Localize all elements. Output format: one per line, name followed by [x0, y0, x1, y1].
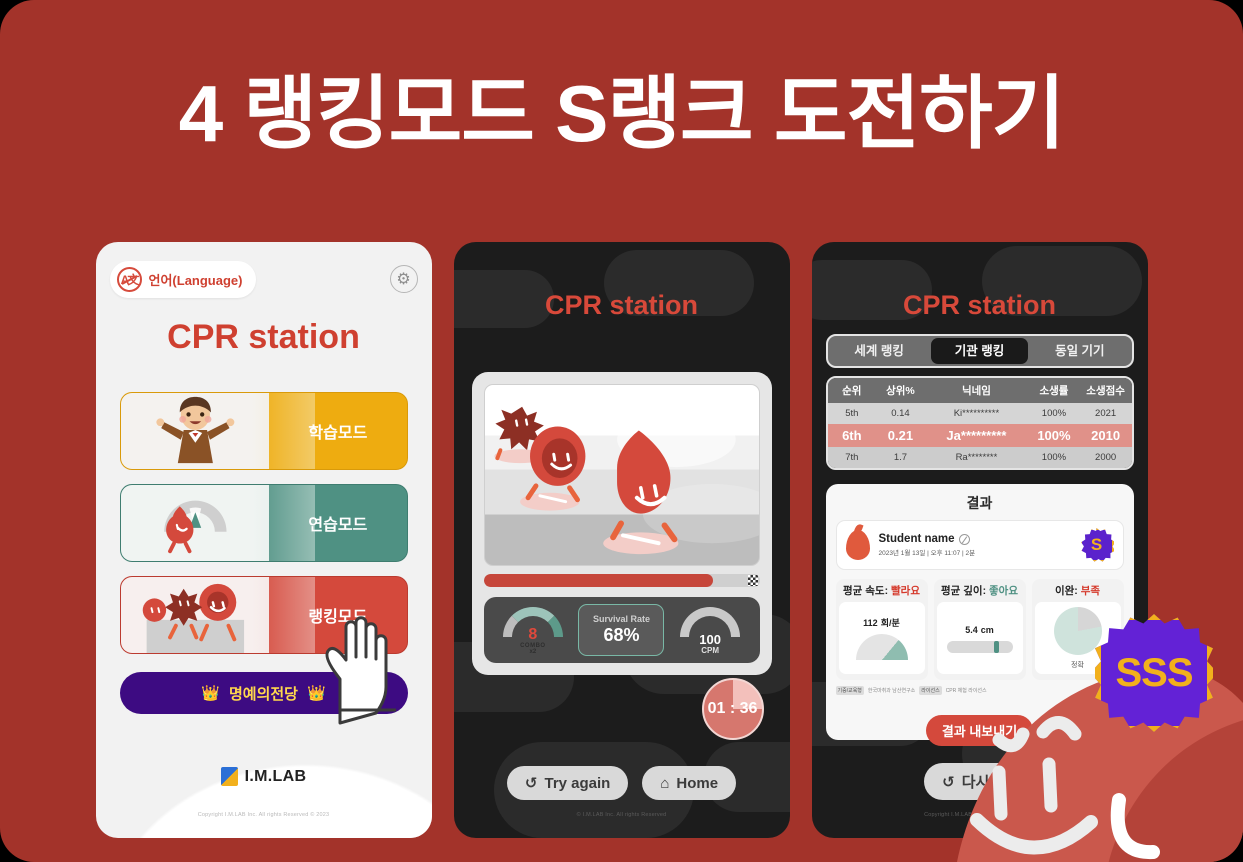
mode-list: 학습모드 — [120, 392, 408, 714]
blood-cells-running-art — [485, 385, 759, 565]
cell-rate: 100% — [1028, 428, 1080, 443]
panel1-topbar: A文 언어(Language) ⚙ — [110, 260, 418, 298]
cell-nickname: Ra******** — [925, 452, 1028, 463]
cell-rank: 7th — [828, 452, 877, 463]
col-rate: 소생률 — [1028, 383, 1080, 398]
stats-bar: 8 COMBO x2 Survival Rate 68% 100 CPM — [484, 597, 760, 663]
cell-rank: 6th — [828, 428, 877, 443]
home-icon: ⌂ — [660, 775, 669, 792]
cpr-device-frame: 8 COMBO x2 Survival Rate 68% 100 CPM — [472, 372, 772, 675]
mode-label-practice: 연습모드 — [269, 511, 406, 535]
imlab-logo: I.M.LAB — [96, 767, 432, 786]
student-info: Student name 2023년 1월 13일 | 오후 11:07 | 2… — [879, 533, 976, 557]
tab-world-ranking[interactable]: 세계 랭킹 — [831, 338, 928, 364]
half-gauge-icon — [856, 634, 908, 660]
panel-ranking-result: CPR station 세계 랭킹 기관 랭킹 동일 기기 순위 상위% 닉네임… — [812, 242, 1148, 838]
metric-label: 평균 깊이: — [941, 585, 986, 597]
metric-value: 112 — [863, 618, 878, 628]
ranking-table: 순위 상위% 닉네임 소생률 소생점수 5th 0.14 Ki*********… — [826, 376, 1134, 470]
cell-rate: 100% — [1028, 452, 1080, 463]
practice-mode-art — [121, 485, 270, 561]
progress-fill — [484, 574, 713, 587]
cell-rate: 100% — [1028, 408, 1080, 419]
cell-score: 2010 — [1080, 428, 1132, 443]
hall-of-fame-button[interactable]: 👑 명예의전당 👑 — [120, 672, 408, 714]
cpm-gauge: 100 CPM — [677, 605, 743, 655]
panel2-title: CPR station — [454, 290, 790, 321]
student-name-row: Student name — [879, 533, 976, 545]
try-again-button[interactable]: ↺ Try again — [507, 766, 628, 800]
refresh-icon: ↺ — [942, 773, 955, 791]
disclaimer-tag-1: 기증/교육형 — [836, 686, 864, 695]
ranking-mode-art — [121, 577, 270, 653]
metric-label: 이완: — [1055, 585, 1078, 597]
grade-badge: S — [1080, 528, 1114, 562]
tab-institution-ranking[interactable]: 기관 랭킹 — [931, 338, 1028, 364]
cpm-label: CPM — [701, 646, 719, 655]
panels-row: A文 언어(Language) ⚙ CPR station — [0, 242, 1243, 838]
metric-sub: 정확 — [1071, 660, 1084, 670]
col-percent: 상위% — [876, 383, 925, 398]
metric-verdict: 부족 — [1081, 585, 1100, 597]
combo-value: 8 — [528, 627, 537, 643]
metric-average-speed: 평균 속도: 빨라요 112 회/분 — [836, 579, 928, 680]
pencil-icon[interactable] — [959, 534, 970, 545]
cpm-value: 100 — [699, 633, 721, 646]
sss-rank-badge: SSS — [1095, 614, 1213, 732]
metric-visual: 112 회/분 — [839, 602, 925, 674]
panel-game-result: CPR station — [454, 242, 790, 838]
panel2-copyright: © I.M.LAB Inc. All rights Reserved — [454, 812, 790, 818]
hall-of-fame-label: 명예의전당 — [229, 683, 298, 704]
metric-label: 평균 속도: — [843, 585, 888, 597]
panel1-copyright: Copyright I.M.LAB Inc. All rights Reserv… — [96, 812, 432, 818]
metric-value: 5.4 — [965, 625, 978, 635]
result-card: 결과 Student name 2023년 1월 13일 | 오후 11:07 … — [826, 484, 1134, 740]
panel1-title: CPR station — [96, 318, 432, 357]
table-row[interactable]: 7th 1.7 Ra******** 100% 2000 — [828, 447, 1132, 468]
cell-nickname: Ja********* — [925, 428, 1028, 443]
home-label: Home — [676, 775, 718, 792]
study-mode-art — [121, 393, 270, 469]
ranking-table-header: 순위 상위% 닉네임 소생률 소생점수 — [828, 378, 1132, 403]
survival-rate-card: Survival Rate 68% — [578, 604, 664, 656]
mode-button-ranking[interactable]: 랭킹모드 — [120, 576, 408, 654]
disclaimer-text-1: 한국마취과 남산연구소 — [868, 687, 915, 694]
metric-value-row: 5.4 cm — [965, 624, 994, 636]
student-name: Student name — [879, 533, 955, 545]
panel3-copyright: Copyright I.M.LAB Inc. All rights Reserv… — [812, 812, 1148, 818]
crown-icon: 👑 — [201, 684, 220, 702]
home-button[interactable]: ⌂ Home — [642, 766, 736, 800]
depth-bar-icon — [947, 641, 1013, 653]
panel3-title: CPR station — [812, 290, 1148, 321]
disclaimer-tag-2: 라이선스 — [919, 686, 941, 695]
metric-title: 평균 속도: 빨라요 — [843, 583, 920, 598]
col-rank: 순위 — [828, 383, 877, 398]
blood-drop-icon — [846, 530, 870, 560]
export-result-label: 결과 내보내기 — [926, 715, 1033, 746]
survival-rate-value: 68% — [603, 625, 639, 646]
combo-gauge: 8 COMBO x2 — [500, 605, 566, 655]
refresh-icon: ↺ — [525, 774, 538, 792]
cell-nickname: Ki********** — [925, 408, 1028, 419]
student-card: Student name 2023년 1월 13일 | 오후 11:07 | 2… — [836, 520, 1124, 570]
table-row[interactable]: 5th 0.14 Ki********** 100% 2021 — [828, 403, 1132, 424]
crown-icon-right: 👑 — [307, 684, 326, 702]
metric-verdict: 좋아요 — [989, 585, 1018, 597]
metric-unit: cm — [981, 625, 994, 635]
retry-label: 다시하기 — [962, 771, 1017, 792]
try-again-label: Try again — [544, 775, 610, 792]
table-row-highlighted[interactable]: 6th 0.21 Ja********* 100% 2010 — [828, 424, 1132, 447]
page-title: 4 랭킹모드 S랭크 도전하기 — [0, 68, 1243, 160]
mode-label-ranking: 랭킹모드 — [269, 603, 406, 627]
retry-button[interactable]: ↺ 다시하기 — [924, 763, 1035, 800]
disclaimer-row: 기증/교육형 한국마취과 남산연구소 라이선스 CPR 체험 라이선스 — [836, 686, 1124, 695]
panel-home-screen: A文 언어(Language) ⚙ CPR station — [96, 242, 432, 838]
timer-badge: 01 : 36 — [702, 678, 764, 740]
cell-percent: 0.14 — [876, 408, 925, 419]
metric-verdict: 빨라요 — [891, 585, 920, 597]
pie-chart-icon — [1054, 607, 1102, 655]
student-meta: 2023년 1월 13일 | 오후 11:07 | 2분 — [879, 547, 976, 557]
mode-button-practice[interactable]: 연습모드 — [120, 484, 408, 562]
mode-button-study[interactable]: 학습모드 — [120, 392, 408, 470]
metric-unit: 회/분 — [881, 618, 900, 628]
progress-bar — [484, 574, 760, 587]
imlab-logo-text: I.M.LAB — [245, 768, 307, 786]
combo-multiplier: x2 — [529, 649, 536, 655]
metric-title: 평균 깊이: 좋아요 — [941, 583, 1018, 598]
finish-flag-icon — [748, 575, 758, 586]
disclaimer-text-2: CPR 체험 라이선스 — [946, 687, 987, 694]
metrics-row: 평균 속도: 빨라요 112 회/분 평 — [836, 579, 1124, 680]
gear-icon[interactable]: ⚙ — [390, 265, 418, 293]
metric-visual: 5.4 cm — [937, 602, 1023, 674]
metric-value-row: 112 회/분 — [863, 616, 900, 629]
panel2-actions: ↺ Try again ⌂ Home — [454, 766, 790, 800]
translate-icon: A文 — [117, 267, 142, 292]
cell-percent: 1.7 — [876, 452, 925, 463]
col-score: 소생점수 — [1080, 383, 1132, 398]
metric-average-depth: 평균 깊이: 좋아요 5.4 cm — [934, 579, 1026, 680]
export-result-button[interactable]: 결과 내보내기 — [812, 715, 1148, 746]
result-title: 결과 — [836, 493, 1124, 513]
imlab-mark-icon — [221, 767, 238, 786]
language-label: 언어(Language) — [149, 270, 243, 289]
cell-rank: 5th — [828, 408, 877, 419]
screenshot-root: 4 랭킹모드 S랭크 도전하기 A文 언어(Language) ⚙ CPR st… — [0, 0, 1243, 862]
metric-title: 이완: 부족 — [1055, 583, 1100, 598]
language-button[interactable]: A文 언어(Language) — [110, 261, 257, 298]
game-screen — [484, 384, 760, 566]
ranking-tabs: 세계 랭킹 기관 랭킹 동일 기기 — [826, 334, 1134, 368]
col-nickname: 닉네임 — [925, 383, 1028, 398]
survival-rate-label: Survival Rate — [593, 614, 650, 624]
mode-label-study: 학습모드 — [269, 419, 406, 443]
cell-percent: 0.21 — [876, 428, 925, 443]
tab-same-device[interactable]: 동일 기기 — [1031, 338, 1128, 364]
cell-score: 2000 — [1080, 452, 1132, 463]
cell-score: 2021 — [1080, 408, 1132, 419]
panel3-actions: ↺ 다시하기 — [812, 763, 1148, 800]
